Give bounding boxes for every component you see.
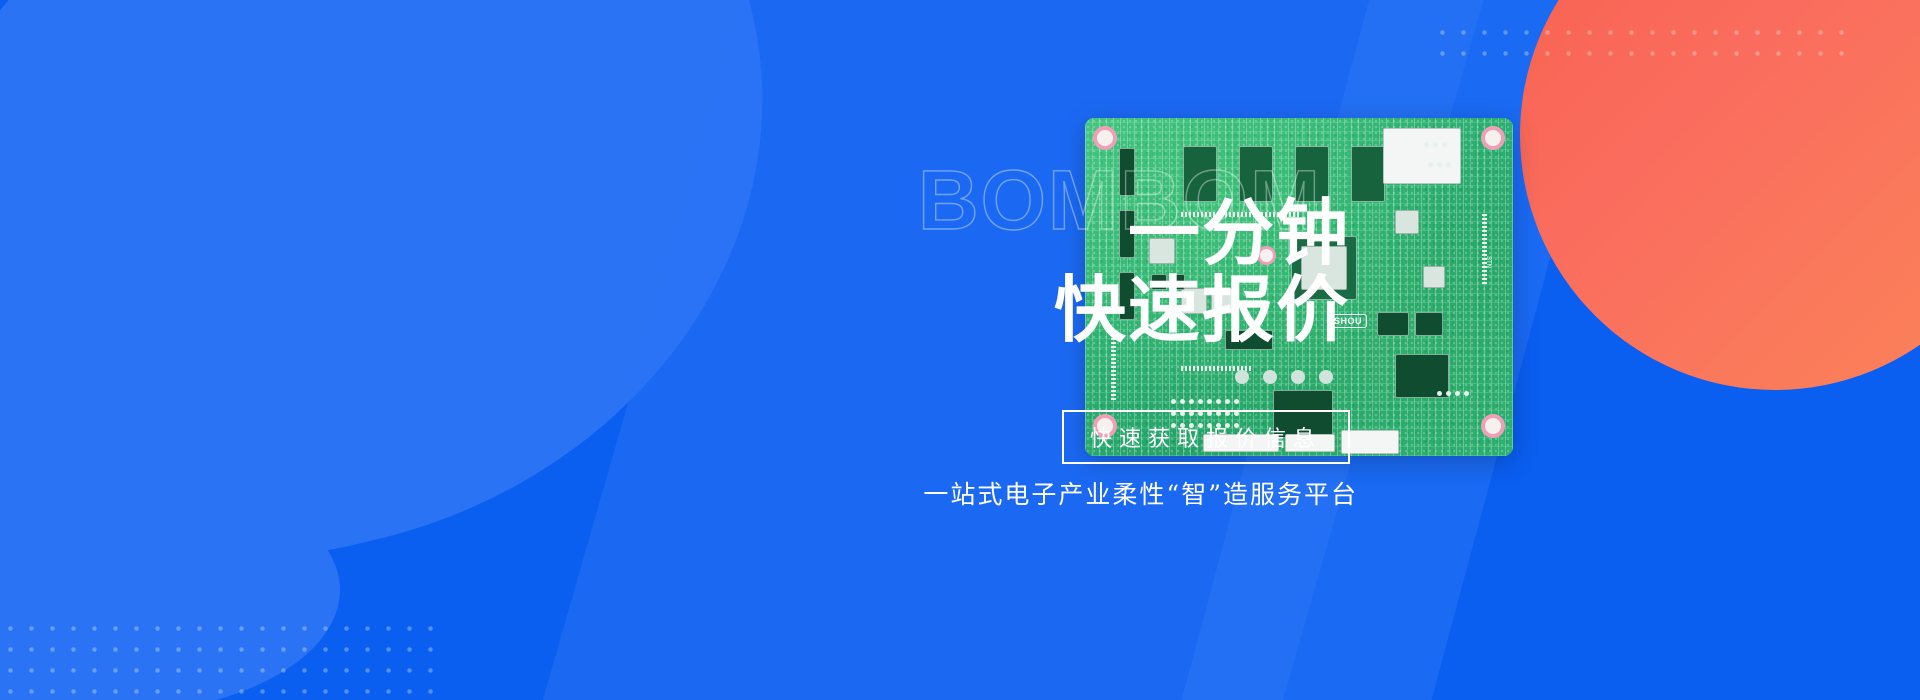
pcb-chip: [1415, 312, 1443, 336]
pcb-contact-dots: [1428, 162, 1451, 167]
pcb-card-slot: [1383, 128, 1461, 184]
pcb-pad-array: [1437, 391, 1469, 396]
pcb-through-hole: [1235, 370, 1249, 384]
dot-grid-bottom-left: [0, 618, 440, 700]
pcb-inductor: [1395, 210, 1419, 234]
subtitle-text: 一站式电子产业柔性“智”造服务平台: [923, 475, 1358, 511]
pcb-through-hole: [1263, 370, 1277, 384]
page-title: 一分钟 快速报价: [690, 150, 1350, 345]
pcb-through-hole: [1319, 370, 1333, 384]
pcb-mounting-hole: [1093, 126, 1117, 150]
headline-line-2: 快速报价: [690, 269, 1350, 346]
pcb-mounting-hole: [1481, 414, 1505, 438]
pcb-mounting-hole: [1481, 126, 1505, 150]
pcb-pin-strip: [1482, 214, 1487, 284]
pcb-contact-dots: [1424, 142, 1447, 147]
dot-grid-top-right: [1432, 22, 1852, 62]
tagline-box: 快速获取报价信息: [1062, 410, 1350, 464]
pcb-inductor: [1423, 266, 1445, 288]
pcb-through-hole: [1291, 370, 1305, 384]
headline-line-1: 一分钟: [690, 150, 1350, 269]
pcb-silkscreen-mark: STN: [1485, 256, 1491, 268]
promo-banner: SHOU STN BOMBOM 一分钟 快速报价 快速获取报价信息 一站式电子产…: [0, 0, 1920, 700]
pcb-chip: [1351, 146, 1385, 202]
pcb-pad-array: [1171, 399, 1239, 404]
pcb-chip: [1377, 312, 1409, 336]
background-decoration: [0, 0, 1920, 700]
